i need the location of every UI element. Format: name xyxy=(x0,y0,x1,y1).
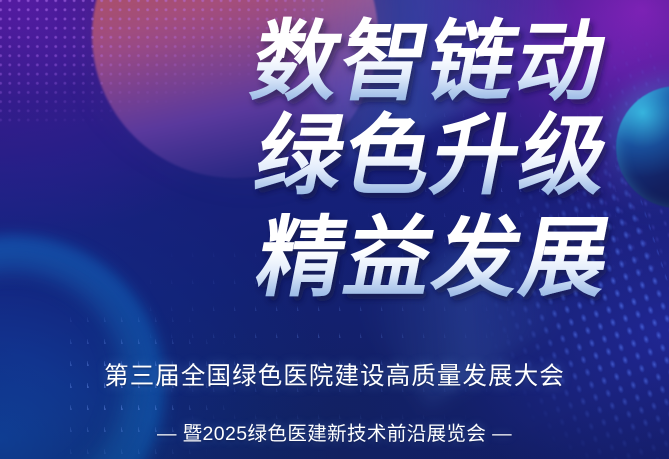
headline-line-1: 数智链动 xyxy=(244,13,615,111)
headline-block: 数智链动 绿色升级 精益发展 xyxy=(0,4,669,314)
subtitle-secondary: — 暨2025绿色医建新技术前沿展览会 — xyxy=(0,417,669,446)
headline-line-2: 绿色升级 xyxy=(248,107,619,205)
headline-line-3: 精益发展 xyxy=(249,209,620,307)
subtitle-main: 第三届全国绿色医院建设高质量发展大会 xyxy=(0,357,669,392)
conference-poster: 数智链动 绿色升级 精益发展 第三届全国绿色医院建设高质量发展大会 — 暨202… xyxy=(0,0,669,459)
